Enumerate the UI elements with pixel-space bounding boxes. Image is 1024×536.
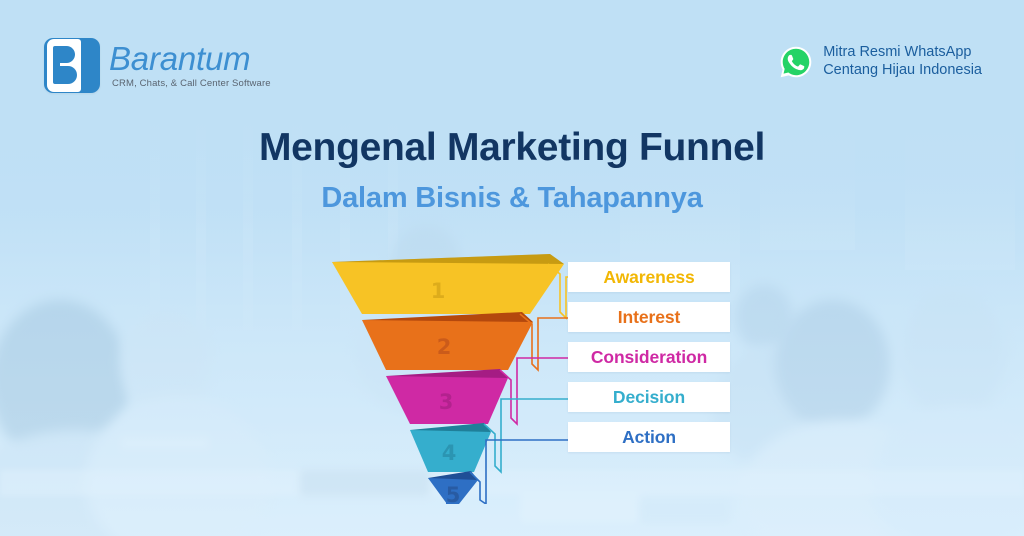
- funnel-label-text: Consideration: [591, 347, 707, 368]
- funnel-stage-labels: Awareness Interest Consideration Decisio…: [568, 262, 730, 462]
- funnel-label-text: Action: [622, 427, 676, 448]
- brand-tagline: CRM, Chats, & Call Center Software: [112, 78, 271, 89]
- funnel-label-action[interactable]: Action: [568, 422, 730, 452]
- whatsapp-partner-badge: Mitra Resmi WhatsApp Centang Hijau Indon…: [779, 44, 982, 79]
- partner-badge-line-2: Centang Hijau Indonesia: [823, 62, 982, 80]
- funnel-label-text: Decision: [613, 387, 685, 408]
- page-subtitle: Dalam Bisnis & Tahapannya: [0, 182, 1024, 215]
- funnel-label-consideration[interactable]: Consideration: [568, 342, 730, 372]
- page-title: Mengenal Marketing Funnel: [0, 126, 1024, 170]
- connector-decision: [484, 399, 572, 472]
- partner-badge-line-1: Mitra Resmi WhatsApp: [823, 44, 982, 62]
- funnel-label-text: Interest: [618, 307, 680, 328]
- barantum-b-logo-icon: [44, 38, 100, 93]
- brand-name: Barantum: [109, 42, 271, 77]
- funnel-label-text: Awareness: [603, 267, 694, 288]
- whatsapp-icon: [779, 45, 813, 79]
- connector-action: [470, 440, 572, 504]
- infographic-canvas: Barantum CRM, Chats, & Call Center Softw…: [0, 0, 1024, 536]
- funnel-label-decision[interactable]: Decision: [568, 382, 730, 412]
- brand-logo[interactable]: Barantum CRM, Chats, & Call Center Softw…: [44, 38, 271, 93]
- funnel-label-awareness[interactable]: Awareness: [568, 262, 730, 292]
- connector-interest: [520, 314, 572, 370]
- funnel-label-interest[interactable]: Interest: [568, 302, 730, 332]
